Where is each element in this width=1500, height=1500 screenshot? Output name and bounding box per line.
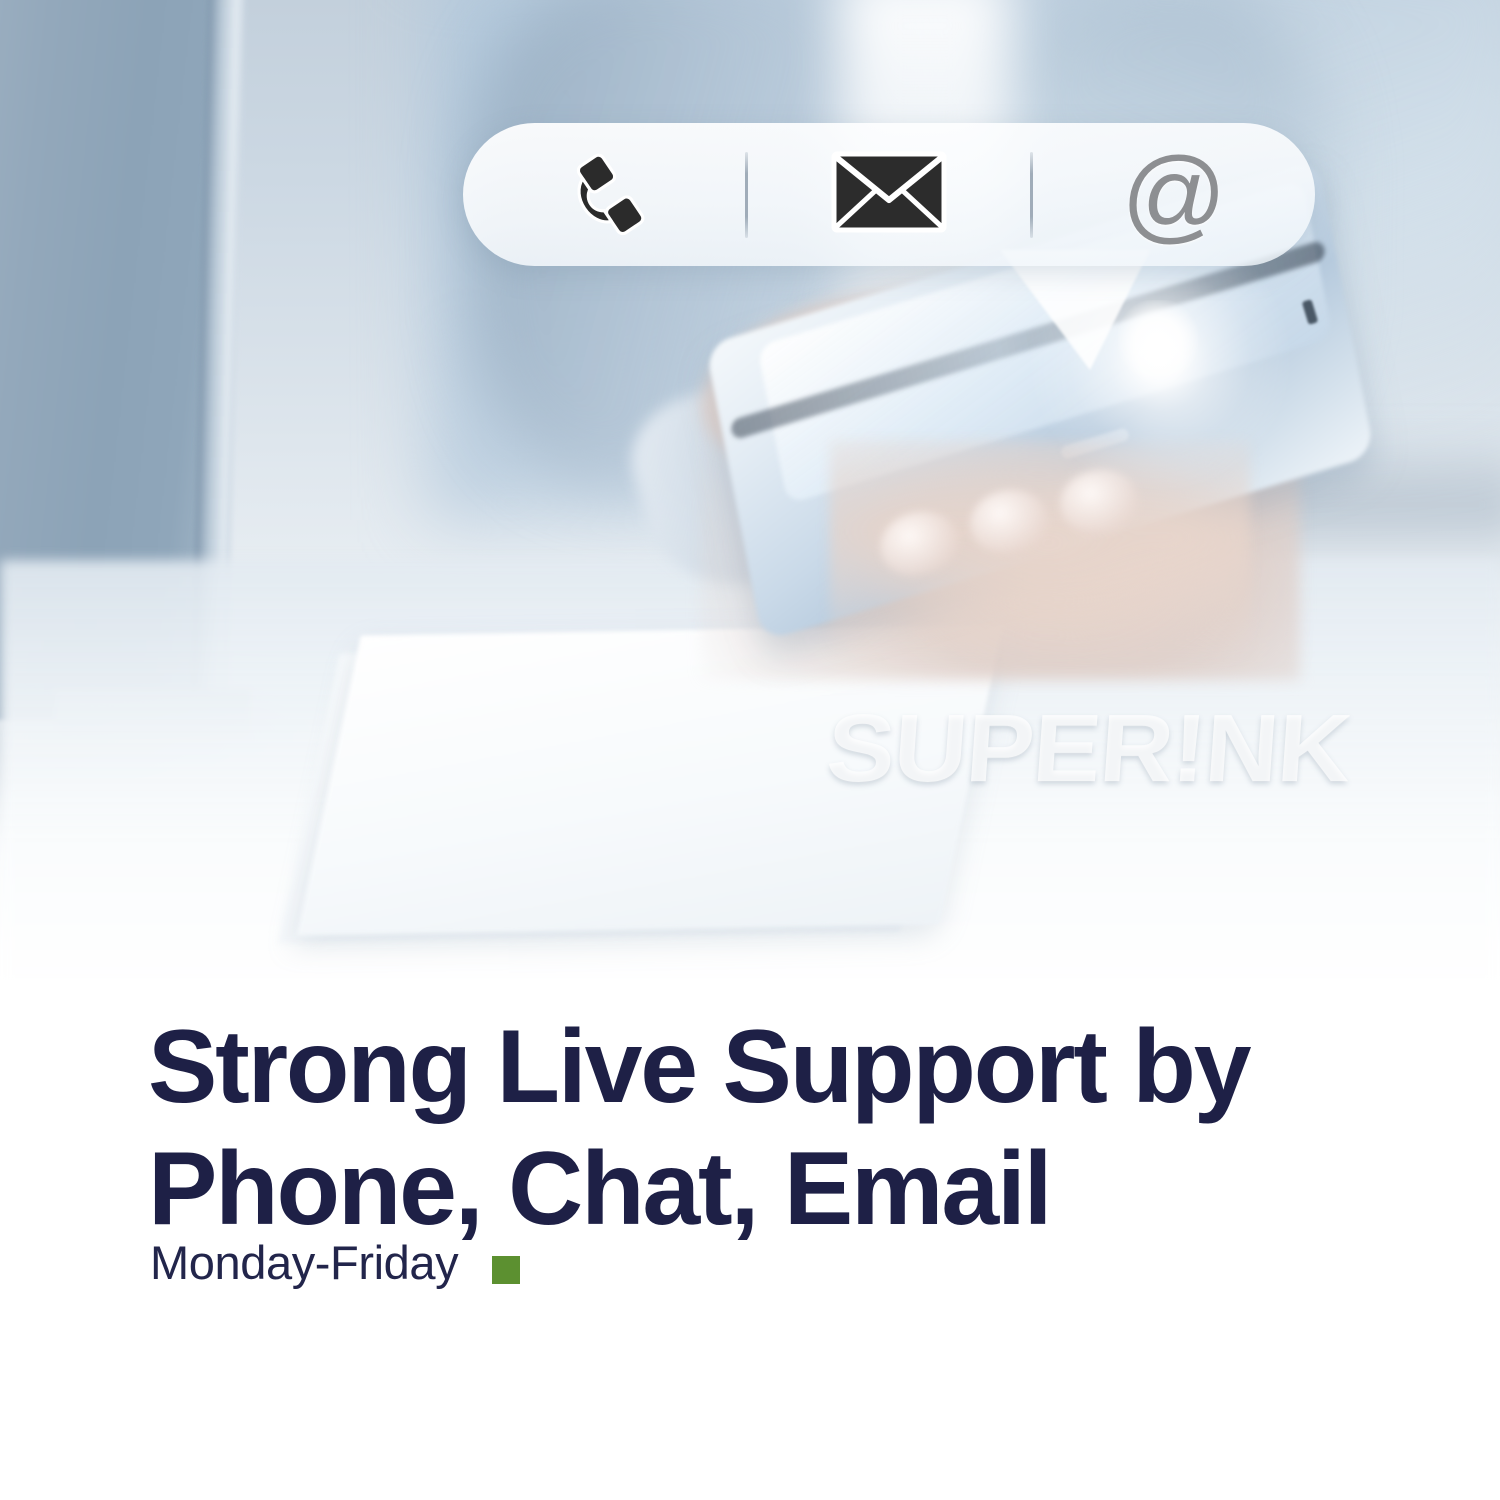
contact-option-at[interactable]: @ (1033, 123, 1315, 266)
phone-icon (563, 146, 655, 243)
superink-watermark: SUPER!NK (823, 694, 1354, 804)
availability-label: Monday-Friday (150, 1235, 458, 1290)
contact-option-email[interactable] (748, 123, 1030, 266)
accent-square-icon (492, 1256, 520, 1284)
availability-line: Monday-Friday (150, 1235, 520, 1290)
light-flare-core (1118, 300, 1198, 380)
envelope-icon (830, 149, 948, 240)
page-title: Strong Live Support by Phone, Chat, Emai… (148, 1006, 1338, 1251)
contact-option-phone[interactable] (463, 123, 745, 266)
contact-icon-bar[interactable]: @ (463, 123, 1315, 266)
support-banner: SUPER!NK (0, 0, 1500, 1500)
at-sign-icon: @ (1121, 143, 1227, 247)
